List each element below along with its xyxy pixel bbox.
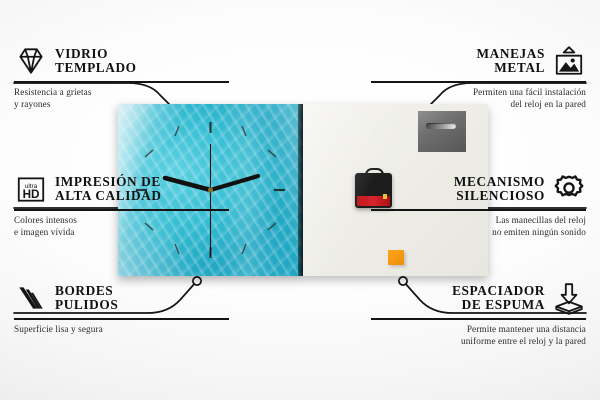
feature-desc-line2: e imagen vívida xyxy=(14,226,229,238)
feature-title-line2: TEMPLADO xyxy=(55,61,137,75)
feature-desc-line2: uniforme entre el reloj y la pared xyxy=(371,335,586,347)
feature-desc-line1: Las manecillas del reloj xyxy=(371,214,586,226)
feature-manejas-metal: MANEJAS METAL Permiten una fácil instala… xyxy=(371,44,586,110)
feature-title: MANEJAS METAL xyxy=(477,47,545,76)
feature-title-line1: MECANISMO xyxy=(454,175,545,189)
feature-divider xyxy=(14,318,229,320)
polished-edge-icon xyxy=(14,281,48,315)
feature-divider xyxy=(371,318,586,320)
feature-header: MANEJAS METAL xyxy=(371,44,586,78)
feature-desc-line1: Resistencia a grietas xyxy=(14,86,229,98)
feature-title: IMPRESIÓN DE ALTA CALIDAD xyxy=(55,175,162,204)
feature-title: MECANISMO SILENCIOSO xyxy=(454,175,545,204)
feature-desc-line2: no emiten ningún sonido xyxy=(371,226,586,238)
feature-header: ultra HD IMPRESIÓN DE ALTA CALIDAD xyxy=(14,172,229,206)
feature-description: Resistencia a grietas y rayones xyxy=(14,86,229,110)
feature-title-line1: BORDES xyxy=(55,284,118,298)
feature-title-line1: IMPRESIÓN DE xyxy=(55,175,162,189)
ultra-hd-icon: ultra HD xyxy=(14,172,48,206)
feature-desc-line1: Permiten una fácil instalación xyxy=(371,86,586,98)
feature-title: BORDES PULIDOS xyxy=(55,284,118,313)
feature-title-line1: VIDRIO xyxy=(55,47,137,61)
feature-impresion-alta-calidad: ultra HD IMPRESIÓN DE ALTA CALIDAD Color… xyxy=(14,172,229,238)
feature-description: Superficie lisa y segura xyxy=(14,323,229,335)
feature-desc-line2: del reloj en la pared xyxy=(371,98,586,110)
feature-mecanismo-silencioso: MECANISMO SILENCIOSO Las manecillas del … xyxy=(371,172,586,238)
feature-title: ESPACIADOR DE ESPUMA xyxy=(452,284,545,313)
arrow-down-stack-icon xyxy=(552,281,586,315)
feature-espaciador-espuma: ESPACIADOR DE ESPUMA Permite mantener un… xyxy=(371,281,586,347)
metal-hanger-plate xyxy=(418,111,466,152)
feature-header: MECANISMO SILENCIOSO xyxy=(371,172,586,206)
feature-title-line1: ESPACIADOR xyxy=(452,284,545,298)
feature-divider xyxy=(371,81,586,83)
feature-bordes-pulidos: BORDES PULIDOS Superficie lisa y segura xyxy=(14,281,229,335)
feature-title-line2: ALTA CALIDAD xyxy=(55,189,162,203)
feature-description: Permiten una fácil instalación del reloj… xyxy=(371,86,586,110)
hd-icon-label-main: HD xyxy=(23,188,40,201)
feature-divider xyxy=(14,81,229,83)
infographic-canvas: VIDRIO TEMPLADO Resistencia a grietas y … xyxy=(0,0,600,400)
feature-header: BORDES PULIDOS xyxy=(14,281,229,315)
hanging-frame-icon xyxy=(552,44,586,78)
feature-desc-line1: Permite mantener una distancia xyxy=(371,323,586,335)
feature-vidrio-templado: VIDRIO TEMPLADO Resistencia a grietas y … xyxy=(14,44,229,110)
feature-desc-line2: y rayones xyxy=(14,98,229,110)
hanger-slot xyxy=(426,123,456,129)
feature-header: ESPACIADOR DE ESPUMA xyxy=(371,281,586,315)
feature-title: VIDRIO TEMPLADO xyxy=(55,47,137,76)
feature-title-line2: PULIDOS xyxy=(55,298,118,312)
gear-icon xyxy=(552,172,586,206)
feature-description: Colores intensos e imagen vívida xyxy=(14,214,229,238)
feature-desc-line1: Superficie lisa y segura xyxy=(14,323,229,335)
feature-description: Permite mantener una distancia uniforme … xyxy=(371,323,586,347)
foam-spacer xyxy=(388,250,404,265)
diamond-icon xyxy=(14,44,48,78)
feature-desc-line1: Colores intensos xyxy=(14,214,229,226)
feature-description: Las manecillas del reloj no emiten ningú… xyxy=(371,214,586,238)
feature-title-line1: MANEJAS xyxy=(477,47,545,61)
feature-divider xyxy=(371,209,586,211)
feature-title-line2: DE ESPUMA xyxy=(452,298,545,312)
feature-header: VIDRIO TEMPLADO xyxy=(14,44,229,78)
feature-divider xyxy=(14,209,229,211)
feature-title-line2: METAL xyxy=(477,61,545,75)
feature-title-line2: SILENCIOSO xyxy=(454,189,545,203)
